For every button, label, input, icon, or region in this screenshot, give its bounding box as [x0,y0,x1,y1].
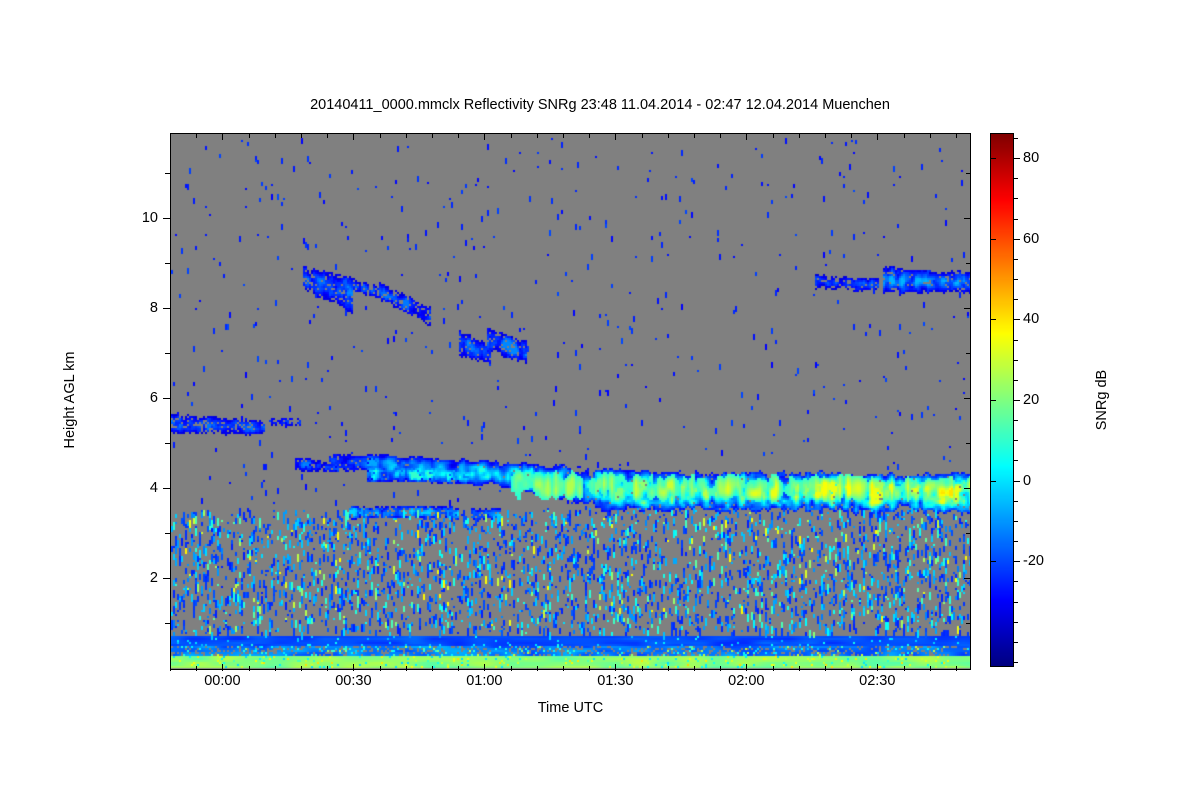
x-tick-minor [694,666,695,671]
y-tick-label: 6 [150,390,158,406]
x-tick-major [484,664,485,671]
colorbar-tick-label: 60 [1023,231,1039,247]
colorbar-tick-minor [1014,602,1018,603]
x-tick-major-top [746,133,747,140]
colorbar-tick-major-left [991,561,996,562]
colorbar-tick-label: 40 [1023,311,1039,327]
x-tick-minor-top [825,133,826,138]
y-tick-major-right [964,218,971,219]
colorbar-tick-minor [1014,581,1018,582]
x-tick-minor [249,666,250,671]
colorbar-tick-minor [1014,501,1018,502]
x-tick-major-top [484,133,485,140]
x-tick-label: 02:30 [859,673,895,689]
x-tick-major [353,664,354,671]
y-tick-minor [165,353,170,354]
x-tick-minor-top [799,133,800,138]
y-tick-minor [165,623,170,624]
x-tick-major-top [615,133,616,140]
y-tick-minor-right [966,173,971,174]
x-tick-major-top [877,133,878,140]
colorbar-tick-minor [1014,460,1018,461]
y-tick-label: 10 [142,210,158,226]
y-tick-major [163,488,170,489]
colorbar-tick-label: -20 [1023,553,1044,569]
x-tick-label: 01:30 [597,673,633,689]
y-tick-minor [165,173,170,174]
colorbar-tick-minor [1014,219,1018,220]
x-tick-minor-top [327,133,328,138]
colorbar-tick-label: 0 [1023,473,1031,489]
x-tick-minor [458,666,459,671]
x-tick-minor [851,666,852,671]
colorbar-tick-minor [1014,138,1018,139]
colorbar-tick-minor [1014,360,1018,361]
x-tick-minor [904,666,905,671]
colorbar-tick-minor [1014,541,1018,542]
x-tick-minor [301,666,302,671]
x-tick-minor-top [904,133,905,138]
y-tick-major-right [964,308,971,309]
y-tick-major-right [964,398,971,399]
x-tick-minor-top [642,133,643,138]
colorbar-tick-minor [1014,259,1018,260]
x-tick-minor-top [249,133,250,138]
colorbar-tick-minor [1014,662,1018,663]
x-tick-minor-top [301,133,302,138]
colorbar-tick-minor [1014,279,1018,280]
colorbar-tick-major [1014,158,1020,159]
colorbar-tick-major-left [991,481,996,482]
x-tick-minor-top [956,133,957,138]
y-tick-minor [165,443,170,444]
x-tick-minor-top [170,133,171,138]
colorbar-tick-major-left [991,319,996,320]
colorbar-title: SNRg dB [1094,340,1110,460]
x-tick-label: 02:00 [728,673,764,689]
x-tick-minor [196,666,197,671]
x-tick-minor-top [196,133,197,138]
x-tick-minor [537,666,538,671]
colorbar-tick-minor [1014,340,1018,341]
y-tick-major [163,308,170,309]
x-tick-minor-top [432,133,433,138]
y-tick-minor [165,533,170,534]
x-tick-minor [563,666,564,671]
x-tick-major [877,664,878,671]
x-tick-minor-top [773,133,774,138]
y-tick-label: 8 [150,300,158,316]
y-tick-label: 4 [150,480,158,496]
x-tick-minor-top [694,133,695,138]
y-tick-major-right [964,578,971,579]
colorbar-tick-minor [1014,521,1018,522]
y-tick-major-right [964,488,971,489]
y-tick-minor-right [966,443,971,444]
y-tick-major [163,578,170,579]
x-tick-minor-top [458,133,459,138]
x-axis-title: Time UTC [170,700,971,716]
y-tick-minor [165,263,170,264]
figure-root: 20140411_0000.mmclx Reflectivity SNRg 23… [0,0,1200,800]
x-tick-minor [432,666,433,671]
y-tick-major [163,398,170,399]
colorbar-tick-minor [1014,420,1018,421]
colorbar-tick-major [1014,319,1020,320]
y-tick-minor-right [966,353,971,354]
colorbar-tick-major-left [991,158,996,159]
x-tick-minor-top [589,133,590,138]
x-tick-minor-top [851,133,852,138]
colorbar-tick-minor [1014,642,1018,643]
x-tick-label: 01:00 [466,673,502,689]
x-tick-minor [773,666,774,671]
plot-title: 20140411_0000.mmclx Reflectivity SNRg 23… [0,97,1200,113]
x-tick-minor-top [537,133,538,138]
y-axis-title: Height AGL km [62,320,78,480]
y-tick-minor-right [966,623,971,624]
colorbar-tick-label: 20 [1023,392,1039,408]
x-tick-minor [589,666,590,671]
x-tick-minor [642,666,643,671]
colorbar-tick-major [1014,239,1020,240]
x-tick-minor [720,666,721,671]
colorbar-tick-major [1014,400,1020,401]
x-tick-minor [825,666,826,671]
x-tick-minor [170,666,171,671]
x-tick-label: 00:30 [335,673,371,689]
x-tick-minor [406,666,407,671]
x-tick-minor [380,666,381,671]
x-tick-major [615,664,616,671]
colorbar-tick-major-left [991,400,996,401]
colorbar-tick-major [1014,481,1020,482]
x-tick-minor-top [380,133,381,138]
colorbar-tick-minor [1014,299,1018,300]
colorbar-tick-minor [1014,622,1018,623]
x-tick-minor [799,666,800,671]
x-tick-major-top [353,133,354,140]
x-tick-minor-top [930,133,931,138]
x-tick-major [746,664,747,671]
y-tick-minor-right [966,533,971,534]
x-tick-major-top [222,133,223,140]
x-tick-minor [930,666,931,671]
x-tick-minor [327,666,328,671]
x-tick-minor-top [563,133,564,138]
x-tick-minor-top [275,133,276,138]
colorbar-tick-label: 80 [1023,150,1039,166]
x-tick-minor-top [406,133,407,138]
x-tick-major [222,664,223,671]
x-tick-label: 00:00 [204,673,240,689]
colorbar-tick-minor [1014,380,1018,381]
x-tick-minor-top [668,133,669,138]
reflectivity-heatmap [171,134,970,669]
plot-area [170,133,971,670]
y-tick-minor-right [966,263,971,264]
colorbar-tick-minor [1014,440,1018,441]
y-tick-major [163,218,170,219]
x-tick-minor-top [720,133,721,138]
x-tick-minor-top [511,133,512,138]
x-tick-minor [956,666,957,671]
colorbar-tick-minor [1014,198,1018,199]
x-tick-minor [511,666,512,671]
colorbar-tick-major [1014,561,1020,562]
y-tick-label: 2 [150,570,158,586]
colorbar-tick-minor [1014,178,1018,179]
colorbar-tick-major-left [991,239,996,240]
x-tick-minor [275,666,276,671]
x-tick-minor [668,666,669,671]
